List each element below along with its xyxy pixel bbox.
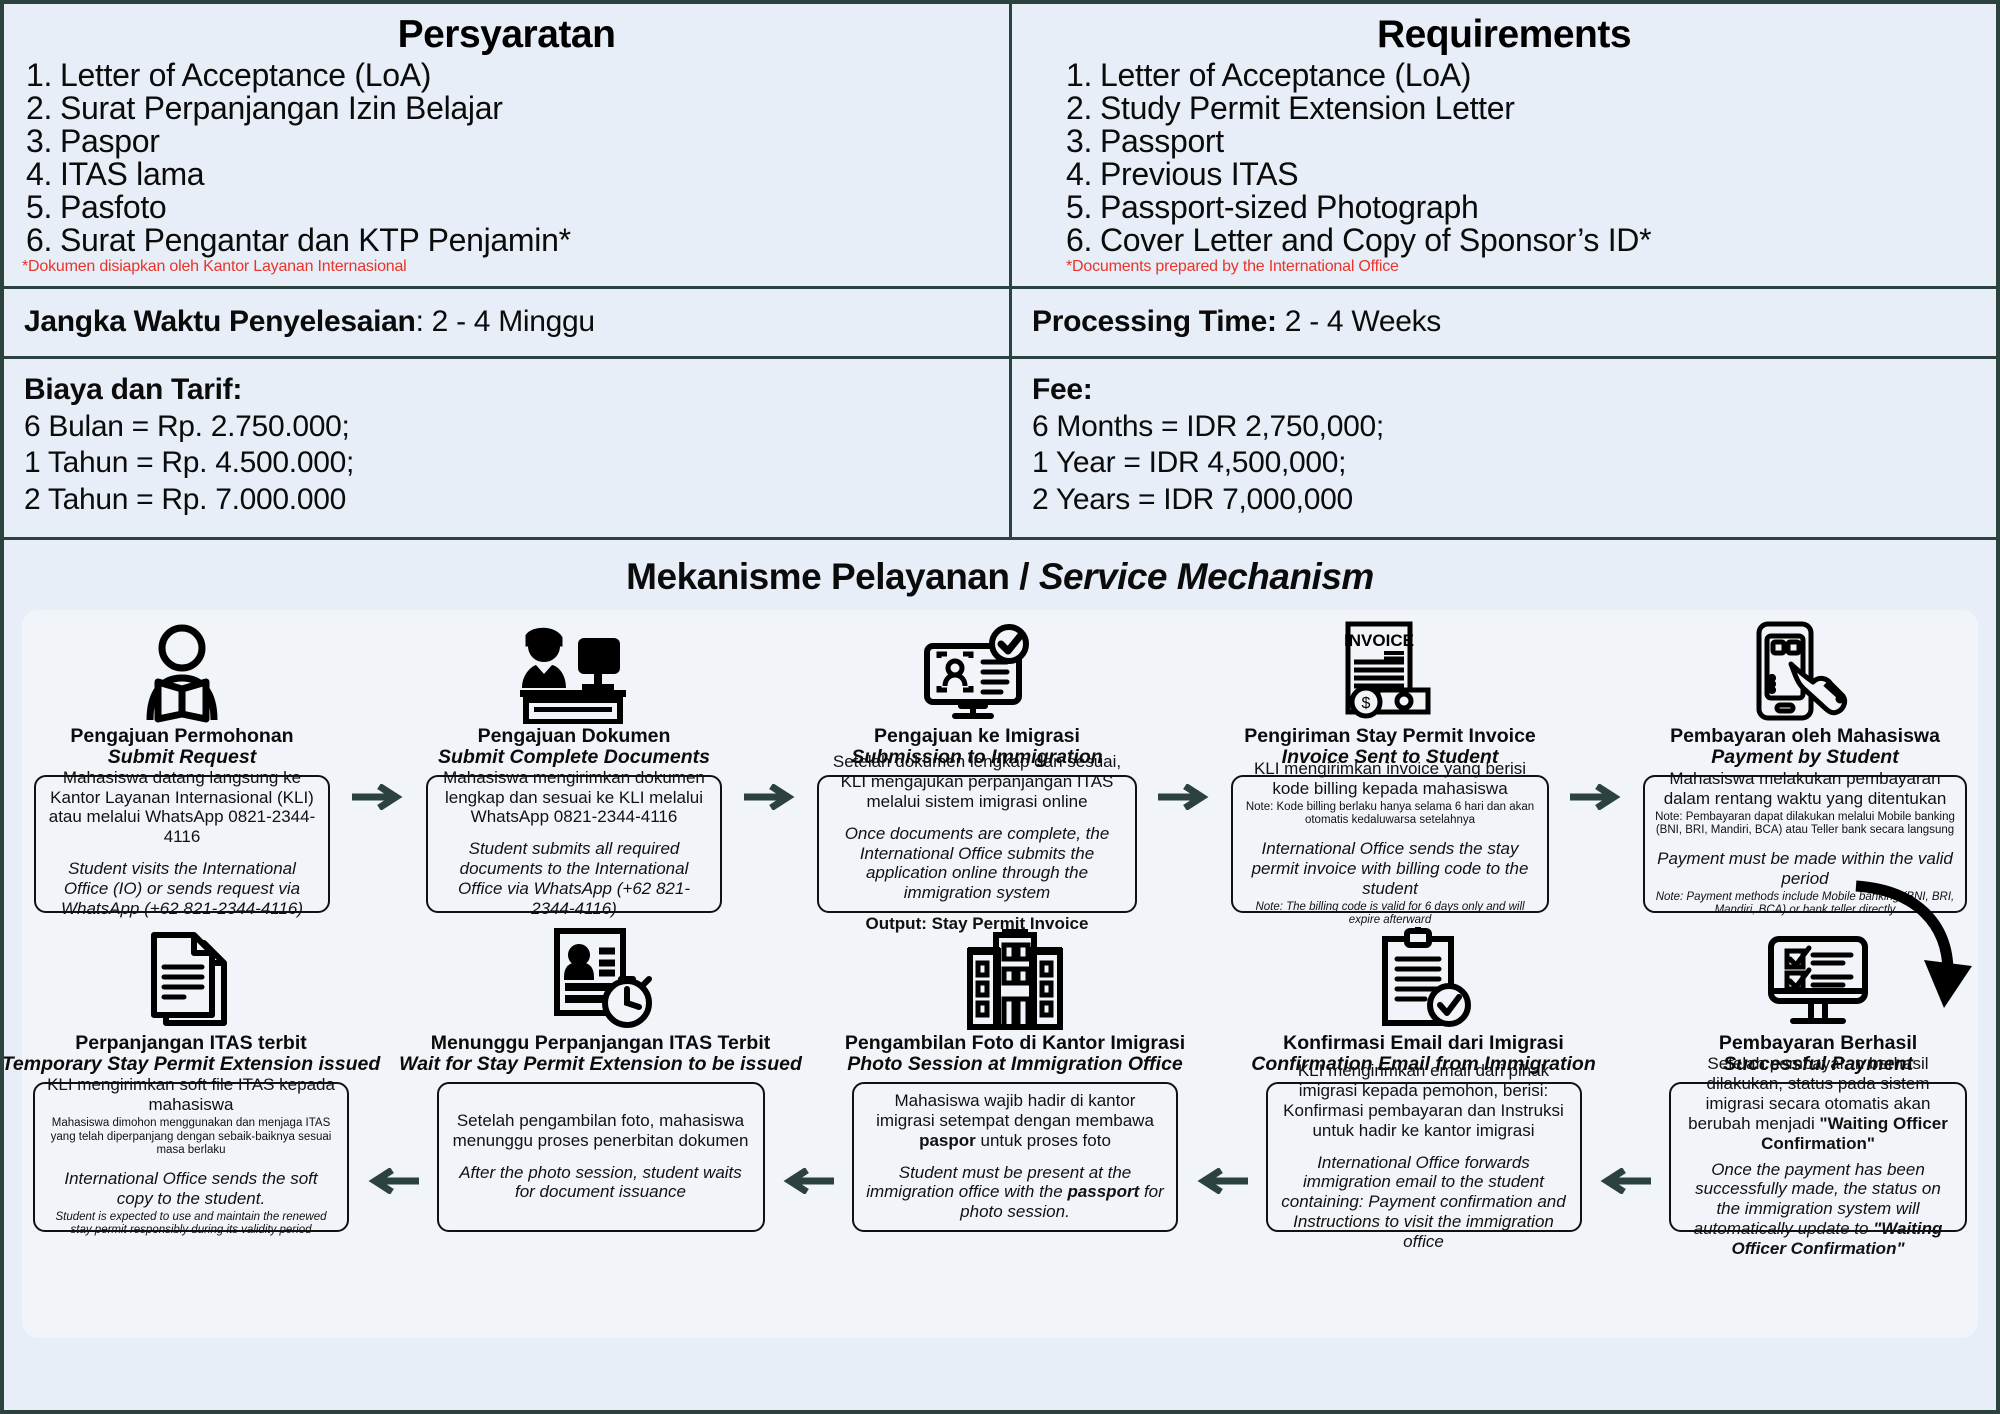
service-mechanism-section: Mekanisme Pelayanan / Service Mechanism <box>4 537 1996 1354</box>
processing-time-cell-id: Jangka Waktu Penyelesaian: 2 - 4 Minggu <box>4 289 1012 357</box>
step-description-box: Setelah pembayaran berhasil dilakukan, s… <box>1669 1082 1967 1232</box>
fee-line: 2 Tahun = Rp. 7.000.000 <box>24 482 991 519</box>
list-item: Cover Letter and Copy of Sponsor’s ID* <box>1066 224 1978 257</box>
arrow-left-icon <box>782 1168 834 1199</box>
person-reading-icon <box>130 616 234 724</box>
step-description-box: Mahasiswa melakukan pembayaran dalam ren… <box>1643 775 1967 913</box>
step-title-id: Pengajuan Permohonan <box>70 726 293 747</box>
fee-line: 6 Months = IDR 2,750,000; <box>1032 409 1978 446</box>
step-description-box: KLI mengirimkan invoice yang berisi kode… <box>1231 775 1549 913</box>
fee-block-id: Biaya dan Tarif: 6 Bulan = Rp. 2.750.000… <box>22 365 991 526</box>
fee-title-en: Fee: <box>1032 371 1978 409</box>
flow-step-photo-session: Pengambilan Foto di Kantor Imigrasi Phot… <box>851 923 1179 1232</box>
processing-time-label-en: Processing Time: <box>1032 305 1277 338</box>
processing-time-cell-en: Processing Time: 2 - 4 Weeks <box>1012 289 1996 357</box>
step-desc-en: Once the payment has been successfully m… <box>1681 1160 1955 1259</box>
flow-step-successful-payment: Pembayaran Berhasil Successful Payment S… <box>1668 923 1968 1232</box>
step-description-box: Mahasiswa datang langsung ke Kantor Laya… <box>34 775 330 913</box>
mechanism-flow-panel: Pengajuan Permohonan Submit Request Maha… <box>22 610 1978 1338</box>
step-desc-en: Student must be present at the immigrati… <box>864 1163 1166 1223</box>
step-desc-id: KLI mengirimkan invoice yang berisi kode… <box>1243 759 1537 799</box>
step-desc-id: KLI mengirimkan email dari pihak imigras… <box>1278 1061 1570 1141</box>
step-note-id: Note: Kode billing berlaku hanya selama … <box>1243 801 1537 828</box>
step-title-en: Payment by Student <box>1711 747 1898 769</box>
requirements-footnote-id: *Dokumen disiapkan oleh Kantor Layanan I… <box>22 258 991 276</box>
step-desc-id: Mahasiswa datang langsung ke Kantor Laya… <box>46 768 318 848</box>
desc-part: untuk proses foto <box>976 1131 1111 1150</box>
svg-text:$: $ <box>1362 695 1371 712</box>
desc-part: Mahasiswa wajib hadir di kantor imigrasi… <box>876 1091 1154 1130</box>
office-building-icon <box>962 923 1068 1031</box>
step-description-box: KLI mengirimkan email dari pihak imigras… <box>1266 1082 1582 1232</box>
step-desc-en: International Office forwards immigratio… <box>1278 1153 1570 1252</box>
step-description-box: Setelah pengambilan foto, mahasiswa menu… <box>437 1082 765 1232</box>
mobile-payment-tap-icon <box>1749 616 1861 724</box>
step-desc-id: Setelah pengambilan foto, mahasiswa menu… <box>449 1111 753 1151</box>
list-item: Previous ITAS <box>1066 158 1978 191</box>
processing-time-label-id: Jangka Waktu Penyelesaian <box>24 305 416 338</box>
flow-row-1: Pengajuan Permohonan Submit Request Maha… <box>32 616 1968 913</box>
fee-line: 1 Tahun = Rp. 4.500.000; <box>24 445 991 482</box>
arrow-right-icon <box>1158 784 1210 815</box>
step-desc-en: Payment must be made within the valid pe… <box>1655 849 1955 889</box>
documents-icon <box>142 923 240 1031</box>
requirements-footnote-en: *Documents prepared by the International… <box>1030 258 1978 276</box>
step-title-en: Photo Session at Immigration Office <box>847 1054 1183 1076</box>
fee-line: 2 Years = IDR 7,000,000 <box>1032 482 1978 519</box>
flow-step-payment-by-student: Pembayaran oleh Mahasiswa Payment by Stu… <box>1642 616 1968 913</box>
service-mechanism-title: Mekanisme Pelayanan / Service Mechanism <box>22 556 1978 598</box>
step-title-id: Pengajuan Dokumen <box>478 726 671 747</box>
arrow-left-icon <box>1599 1168 1651 1199</box>
list-item: Passport-sized Photograph <box>1066 191 1978 224</box>
flow-step-submission-to-immigration: Pengajuan ke Imigrasi Submission to Immi… <box>816 616 1138 913</box>
step-desc-en: International Office sends the soft copy… <box>45 1169 337 1209</box>
step-note-id: Note: Pembayaran dapat dilakukan melalui… <box>1655 811 1955 838</box>
requirements-list-id: Letter of Acceptance (LoA) Surat Perpanj… <box>22 59 991 257</box>
fee-row: Biaya dan Tarif: 6 Bulan = Rp. 2.750.000… <box>4 356 1996 536</box>
step-title-en: Submit Complete Documents <box>438 747 710 769</box>
step-title-id: Pengajuan ke Imigrasi <box>874 726 1080 747</box>
step-title-id: Menunggu Perpanjangan ITAS Terbit <box>431 1033 770 1054</box>
step-desc-id: Mahasiswa melakukan pembayaran dalam ren… <box>1655 769 1955 809</box>
step-title-en: Wait for Stay Permit Extension to be iss… <box>399 1054 802 1076</box>
step-title-id: Pembayaran oleh Mahasiswa <box>1670 726 1940 747</box>
step-title-en: Submit Request <box>108 747 256 769</box>
list-item: Study Permit Extension Letter <box>1066 92 1978 125</box>
fee-block-en: Fee: 6 Months = IDR 2,750,000; 1 Year = … <box>1030 365 1978 526</box>
list-item: Passport <box>1066 125 1978 158</box>
step-title-en: Temporary Stay Permit Extension issued <box>2 1054 381 1076</box>
step-desc-id: Mahasiswa mengirimkan dokumen lengkap da… <box>438 768 710 828</box>
step-note-id: Mahasiswa dimohon menggunakan dan menjag… <box>45 1117 337 1157</box>
mechanism-title-en: Service Mechanism <box>1039 556 1374 597</box>
arrow-right-icon <box>744 784 796 815</box>
flow-row-2: Perpanjangan ITAS terbit Temporary Stay … <box>32 923 1968 1232</box>
monitor-checklist-icon <box>1763 923 1873 1031</box>
step-desc-en: After the photo session, student waits f… <box>449 1163 753 1203</box>
flow-step-confirmation-email: Konfirmasi Email dari Imigrasi Confirmat… <box>1265 923 1583 1232</box>
requirements-table: Persyaratan Letter of Acceptance (LoA) S… <box>4 4 1996 537</box>
step-desc-en: Once documents are complete, the Interna… <box>829 824 1125 904</box>
svg-text:INVOICE: INVOICE <box>1344 631 1414 650</box>
requirements-cell-english: Requirements Letter of Acceptance (LoA) … <box>1012 4 1996 286</box>
step-title-id: Pengambilan Foto di Kantor Imigrasi <box>845 1033 1185 1054</box>
flow-step-submit-documents: Pengajuan Dokumen Submit Complete Docume… <box>424 616 724 913</box>
processing-time-value-en: 2 - 4 Weeks <box>1277 305 1441 338</box>
step-title-id: Perpanjangan ITAS terbit <box>75 1033 307 1054</box>
step-title-id: Pembayaran Berhasil <box>1719 1033 1917 1054</box>
step-description-box: Setelah dokumen lengkap dan sesuai, KLI … <box>817 775 1137 913</box>
step-desc-en: International Office sends the stay perm… <box>1243 839 1537 899</box>
clipboard-check-icon <box>1375 923 1473 1031</box>
mechanism-title-id: Mekanisme Pelayanan <box>626 556 1009 597</box>
list-item: Letter of Acceptance (LoA) <box>1066 59 1978 92</box>
requirements-cell-indonesian: Persyaratan Letter of Acceptance (LoA) S… <box>4 4 1012 286</box>
step-desc-id: Mahasiswa wajib hadir di kantor imigrasi… <box>864 1091 1166 1151</box>
desc-emphasis: paspor <box>919 1131 976 1150</box>
requirements-list-en: Letter of Acceptance (LoA) Study Permit … <box>1030 59 1978 257</box>
flow-step-invoice-sent: INVOICE $ Pengiriman Stay Permit Invoice… <box>1230 616 1550 913</box>
step-desc-id: Setelah pembayaran berhasil dilakukan, s… <box>1681 1054 1955 1153</box>
fee-cell-en: Fee: 6 Months = IDR 2,750,000; 1 Year = … <box>1012 359 1996 536</box>
flow-step-submit-request: Pengajuan Permohonan Submit Request Maha… <box>32 616 332 913</box>
infographic-page: Persyaratan Letter of Acceptance (LoA) S… <box>0 0 2000 1414</box>
step-note-en: Note: Payment methods include Mobile ban… <box>1655 891 1955 918</box>
invoice-money-icon: INVOICE $ <box>1338 616 1442 724</box>
step-desc-en: Student visits the International Office … <box>46 859 318 919</box>
processing-time-row: Jangka Waktu Penyelesaian: 2 - 4 Minggu … <box>4 286 1996 357</box>
step-desc-id: KLI mengirimkan soft file ITAS kepada ma… <box>45 1075 337 1115</box>
list-item: Pasfoto <box>26 191 991 224</box>
fee-cell-id: Biaya dan Tarif: 6 Bulan = Rp. 2.750.000… <box>4 359 1012 536</box>
list-item: Paspor <box>26 125 991 158</box>
monitor-id-verified-icon <box>921 616 1033 724</box>
arrow-right-icon <box>1570 784 1622 815</box>
list-item: Surat Pengantar dan KTP Penjamin* <box>26 224 991 257</box>
fee-line: 1 Year = IDR 4,500,000; <box>1032 445 1978 482</box>
flow-step-wait-for-extension: Menunggu Perpanjangan ITAS Terbit Wait f… <box>436 923 766 1232</box>
processing-time-value-id: : 2 - 4 Minggu <box>416 305 595 338</box>
step-title-id: Pengiriman Stay Permit Invoice <box>1244 726 1536 747</box>
requirements-title-en: Requirements <box>1030 13 1978 57</box>
step-description-box: Mahasiswa mengirimkan dokumen lengkap da… <box>426 775 722 913</box>
step-description-box: KLI mengirimkan soft file ITAS kepada ma… <box>33 1082 349 1232</box>
step-title-id: Konfirmasi Email dari Imigrasi <box>1283 1033 1564 1054</box>
mechanism-title-separator: / <box>1010 556 1039 597</box>
fee-title-id: Biaya dan Tarif: <box>24 371 991 409</box>
arrow-left-icon <box>367 1168 419 1199</box>
fee-line: 6 Bulan = Rp. 2.750.000; <box>24 409 991 446</box>
processing-time-en: Processing Time: 2 - 4 Weeks <box>1030 295 1978 347</box>
list-item: Letter of Acceptance (LoA) <box>26 59 991 92</box>
requirements-row: Persyaratan Letter of Acceptance (LoA) S… <box>4 4 1996 286</box>
processing-time-id: Jangka Waktu Penyelesaian: 2 - 4 Minggu <box>22 295 991 347</box>
desc-emphasis: passport <box>1067 1182 1139 1201</box>
list-item: Surat Perpanjangan Izin Belajar <box>26 92 991 125</box>
arrow-right-icon <box>352 784 404 815</box>
requirements-title-id: Persyaratan <box>22 13 991 57</box>
step-note-en: Student is expected to use and maintain … <box>45 1211 337 1238</box>
step-desc-en: Student submits all required documents t… <box>438 839 710 919</box>
step-desc-id: Setelah dokumen lengkap dan sesuai, KLI … <box>829 752 1125 812</box>
step-description-box: Mahasiswa wajib hadir di kantor imigrasi… <box>852 1082 1178 1232</box>
list-item: ITAS lama <box>26 158 991 191</box>
officer-desk-icon <box>520 616 628 724</box>
arrow-left-icon <box>1196 1168 1248 1199</box>
id-card-stopwatch-icon <box>547 923 655 1031</box>
flow-step-extension-issued: Perpanjangan ITAS terbit Temporary Stay … <box>32 923 350 1232</box>
